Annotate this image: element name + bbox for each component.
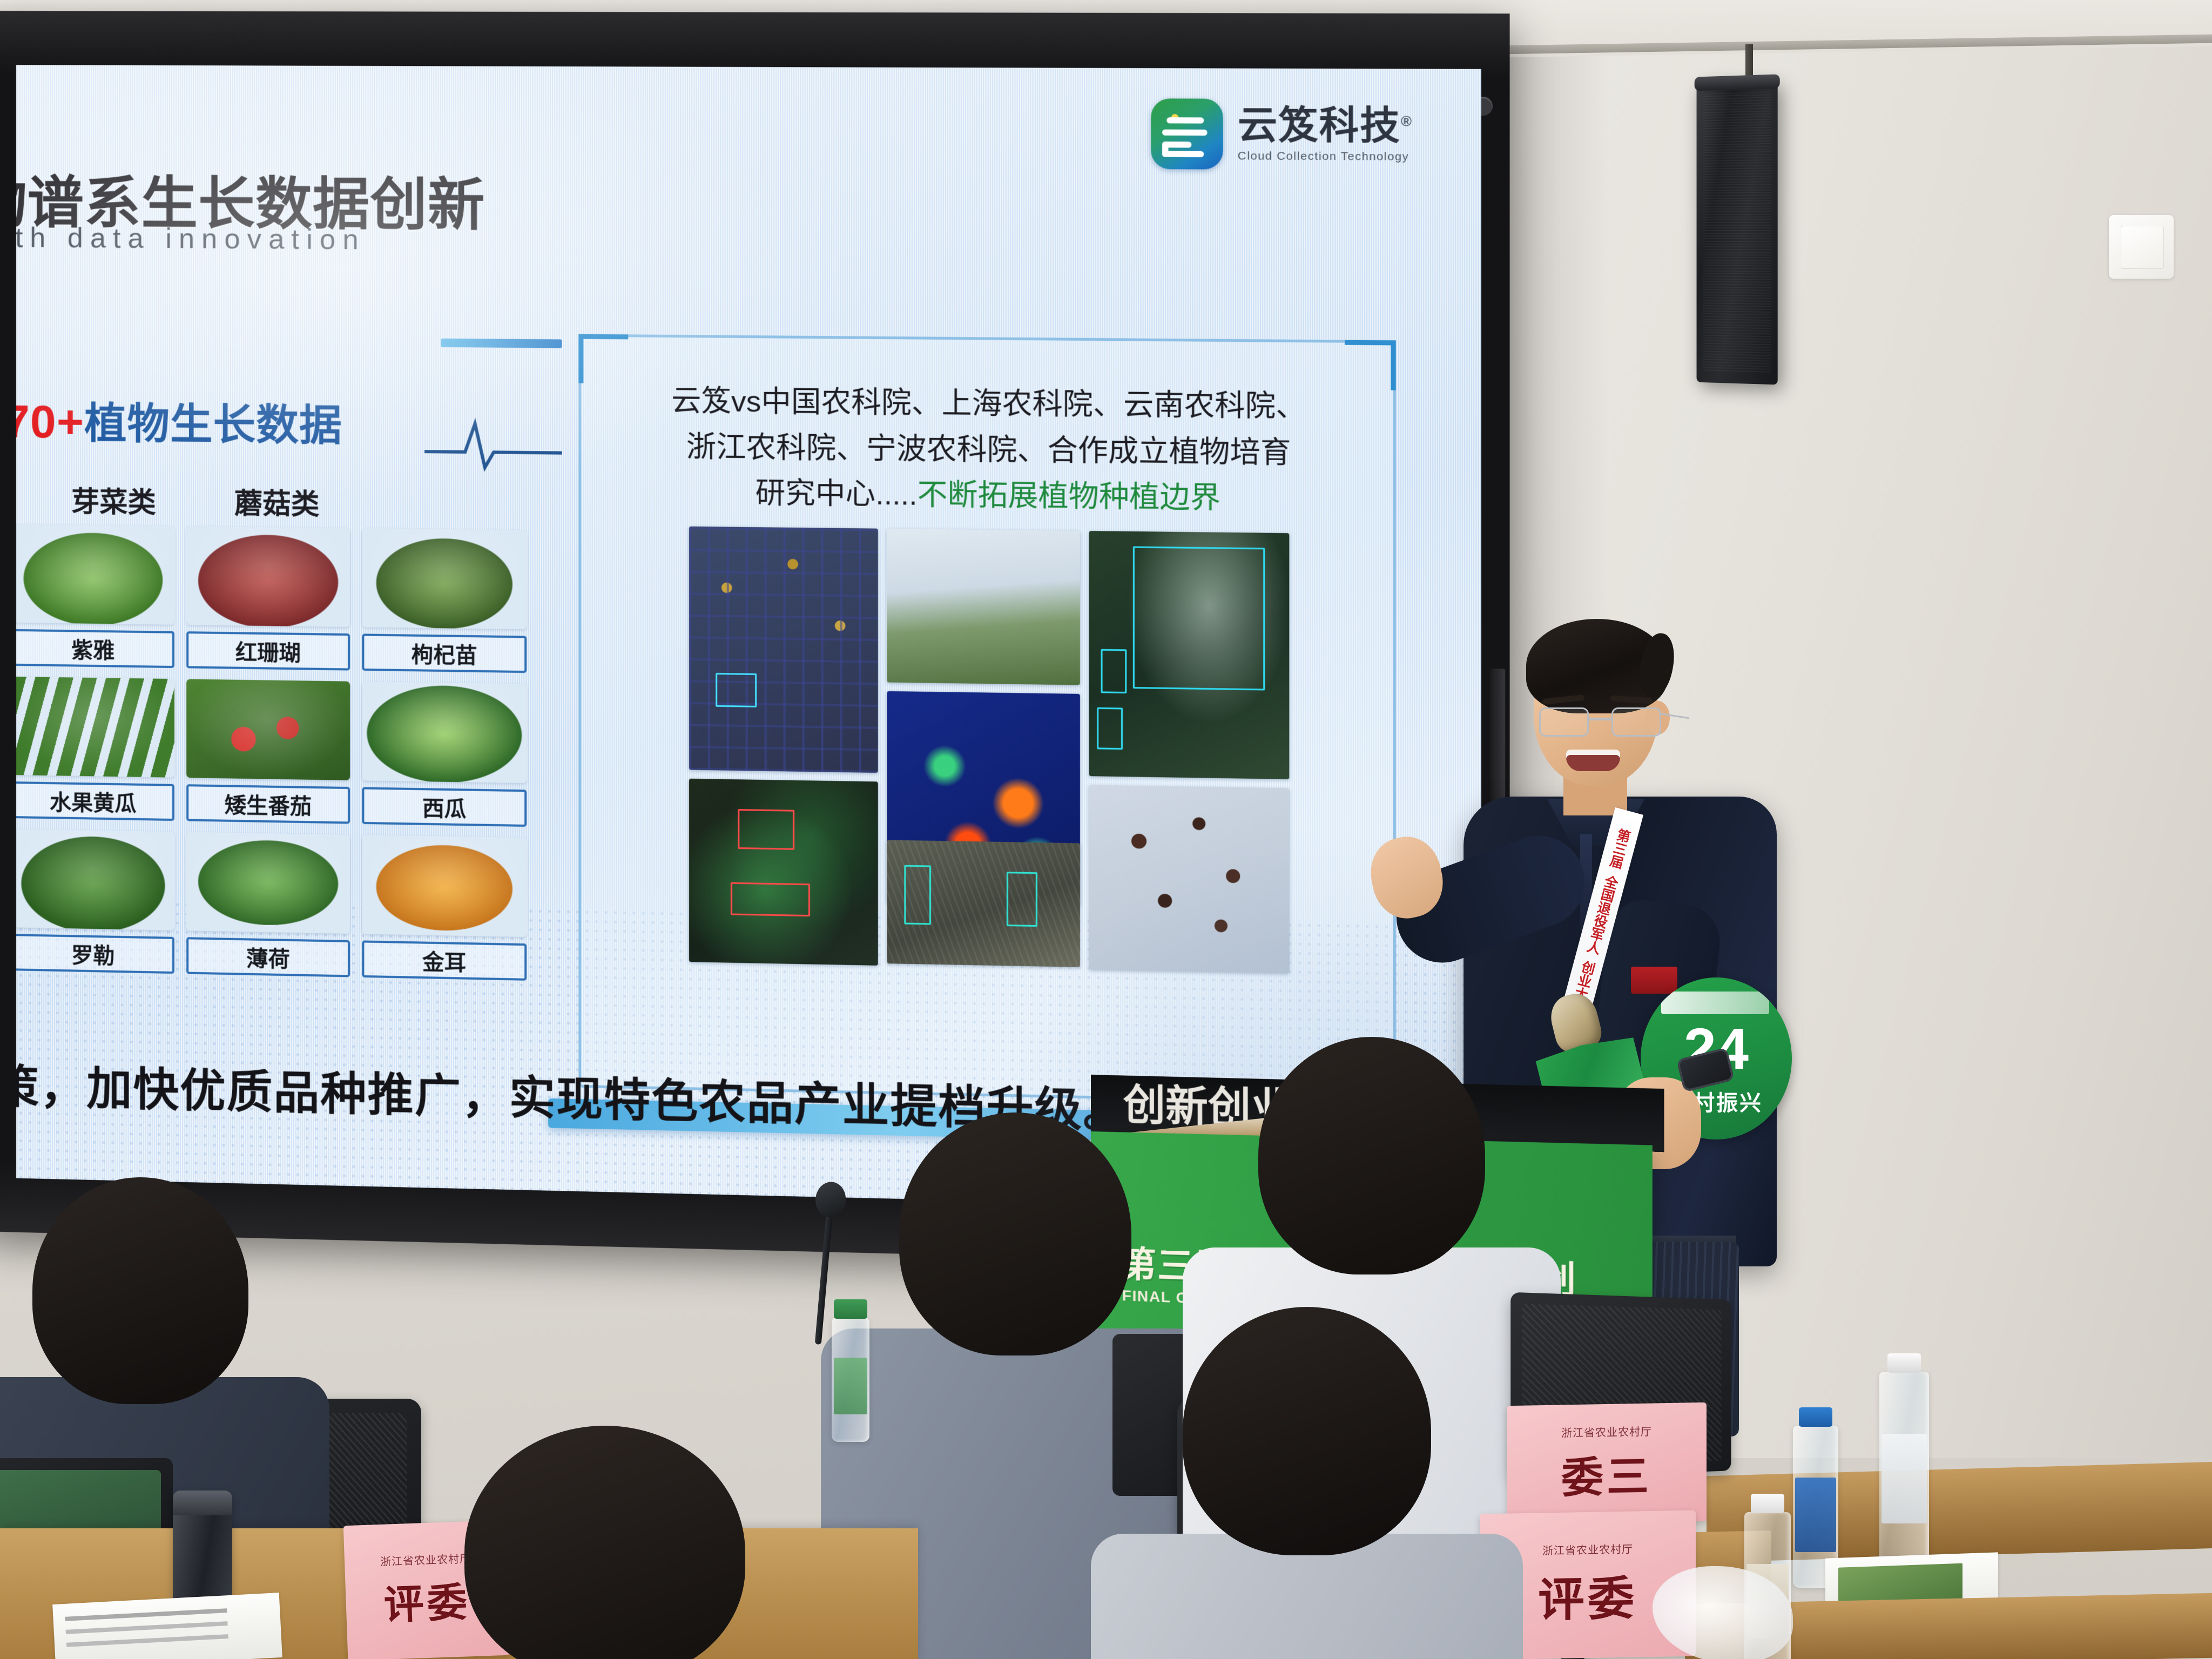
plant-label: 紫雅	[16, 629, 174, 668]
plant-label: 矮生番茄	[186, 784, 350, 824]
plant-label: 水果黄瓜	[16, 781, 174, 821]
plant-label: 金耳	[362, 940, 527, 980]
plant-label: 薄荷	[186, 937, 350, 977]
plant-category: 蘑菇类	[195, 480, 359, 523]
plant-label: 罗勒	[16, 934, 174, 974]
plant-thumb	[362, 682, 527, 783]
plant-thumb	[186, 526, 350, 627]
photo-seed-sample	[1089, 785, 1290, 974]
logo-chinese-name: 云笈科技®	[1238, 106, 1413, 145]
audience-member	[410, 1426, 799, 1659]
plant-thumb	[186, 832, 350, 934]
photo-soil-detection	[887, 840, 1080, 967]
plant-category: 果蔬类	[16, 477, 32, 519]
plant-thumb	[362, 835, 527, 937]
slide-subtitle: age growth data innovation	[16, 221, 772, 259]
plant-cell[interactable]: 枸杞苗	[362, 528, 527, 673]
registered-mark-icon: ®	[1401, 112, 1413, 129]
presenter-mouth	[1566, 750, 1620, 771]
badge-header-strip	[1661, 992, 1769, 1014]
partnership-card: 云笈vs中国农科院、上海农科院、云南农科院、 浙江农科院、宁波农科院、合作成立植…	[578, 334, 1396, 1105]
plant-cell[interactable]: 水果黄瓜	[16, 677, 174, 821]
audience-member	[1112, 1307, 1501, 1659]
name-plate-org: 浙江省农业农村厅	[1561, 1422, 1652, 1440]
partnership-line-2: 浙江农科院、宁波农科院、合作成立植物培育	[615, 424, 1365, 477]
plant-thumb	[16, 524, 174, 625]
light-switch[interactable]	[2109, 215, 2174, 279]
card-accent-bar	[441, 339, 562, 348]
plant-category-row: 果蔬类 芽菜类 蘑菇类	[16, 477, 562, 525]
card-corner-icon	[1345, 340, 1396, 390]
brand-logo: 云笈科技® Cloud Collection Technology	[1151, 98, 1413, 170]
logo-text-block: 云笈科技® Cloud Collection Technology	[1238, 106, 1413, 164]
name-plate-org: 浙江省农业农村厅	[1542, 1541, 1633, 1558]
plant-cell[interactable]: 矮生番茄	[186, 679, 350, 824]
printed-handout[interactable]	[52, 1593, 282, 1659]
partnership-line-1: 云笈vs中国农科院、上海农科院、云南农科院、	[615, 378, 1365, 431]
field-photo-grid	[689, 527, 1294, 970]
plant-thumb	[186, 679, 350, 780]
badge-clip	[1631, 967, 1677, 994]
pulse-line-icon	[424, 415, 562, 476]
photo-greenhouse-structure	[887, 529, 1080, 685]
plant-cell[interactable]: 罗勒	[16, 829, 174, 974]
ceiling-speaker	[1697, 80, 1778, 385]
name-plate: 浙江省农业农村厅 委三	[1507, 1402, 1707, 1525]
name-plate-role: 评委	[1538, 1560, 1637, 1629]
plant-cell[interactable]: 西瓜	[362, 682, 527, 827]
cloud-collection-logo-icon	[1151, 98, 1223, 169]
plant-catalog-card: 苗类、70+植物生长数据 果蔬类 芽菜类 蘑菇类 橡叶绿 紫雅 红珊瑚 枸杞苗	[16, 334, 562, 1082]
partnership-line-3-black: 研究中心.....	[756, 477, 918, 511]
plant-thumb	[16, 829, 174, 930]
slide-canvas: 种-植物谱系生长数据创新 age growth data innovation …	[16, 65, 1481, 1212]
plant-label: 西瓜	[362, 787, 527, 827]
plant-grid-row: 韭菜 水果黄瓜 矮生番茄 西瓜	[16, 674, 562, 827]
photo-leaf-detection	[1089, 531, 1290, 779]
conference-room-scene: 种-植物谱系生长数据创新 age growth data innovation …	[0, 0, 2212, 1659]
partnership-line-3: 研究中心.....不断拓展植物种植边界	[615, 469, 1365, 523]
plant-label: 红珊瑚	[186, 631, 350, 670]
plant-cell[interactable]: 红珊瑚	[186, 526, 350, 670]
plant-label: 枸杞苗	[362, 633, 527, 673]
plant-thumb	[16, 677, 174, 778]
water-bottle[interactable]	[832, 1318, 869, 1442]
plant-cell[interactable]: 薄荷	[186, 832, 350, 977]
headline-count: 70+	[16, 395, 84, 448]
photo-seedling-bed	[689, 779, 878, 966]
plant-thumbnail-grid: 橡叶绿 紫雅 红珊瑚 枸杞苗 韭菜 水果黄瓜 矮生番茄 西瓜 小葱 罗勒	[16, 522, 562, 992]
card-corner-icon	[578, 334, 628, 384]
plant-cell[interactable]: 金耳	[362, 835, 527, 981]
partnership-text: 云笈vs中国农科院、上海农科院、云南农科院、 浙江农科院、宁波农科院、合作成立植…	[615, 378, 1365, 523]
partnership-line-3-green: 不断拓展植物种植边界	[918, 478, 1220, 515]
headline-post: 植物生长数据	[84, 400, 342, 450]
plant-grid-row: 小葱 罗勒 薄荷 金耳	[16, 826, 562, 982]
plant-cell[interactable]: 紫雅	[16, 524, 174, 668]
water-bottle[interactable]	[1879, 1372, 1929, 1566]
plant-grid-row: 橡叶绿 紫雅 红珊瑚 枸杞苗	[16, 522, 562, 673]
speaker-cap	[1695, 74, 1780, 91]
sash-line-1: 第三届	[1605, 826, 1634, 871]
eyeglasses-icon	[1539, 707, 1661, 739]
plant-thumb	[362, 528, 527, 629]
photo-greenhouse-rows	[689, 527, 878, 773]
name-plate-role: 委三	[1561, 1442, 1652, 1505]
plant-category: 芽菜类	[32, 478, 195, 521]
logo-english-name: Cloud Collection Technology	[1238, 149, 1413, 163]
